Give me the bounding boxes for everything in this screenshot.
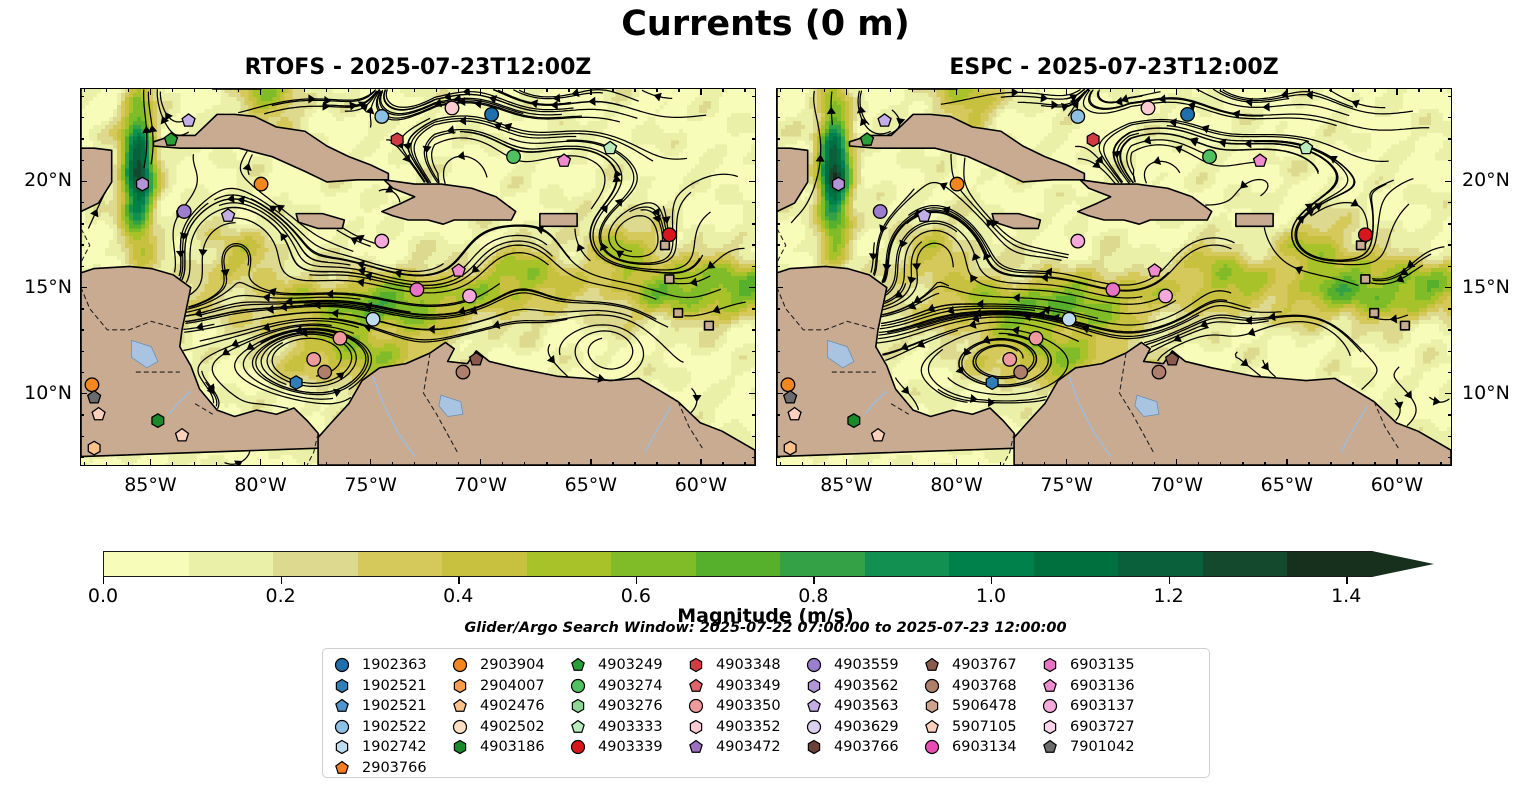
y-tick-minor: [1448, 436, 1452, 437]
y-tick-minor: [752, 351, 756, 352]
y-axis-label: 10°N: [1462, 382, 1510, 404]
legend-float-id: 5907105: [943, 719, 1017, 735]
x-tick-minor: [678, 462, 679, 466]
y-tick-minor: [752, 96, 756, 97]
legend-entry[interactable]: 6903727: [1039, 717, 1157, 738]
x-axis-label: 75°W: [1022, 474, 1112, 496]
colorbar-tick: [1346, 577, 1347, 584]
x-tick: [590, 459, 591, 466]
x-tick-minor: [1000, 462, 1001, 466]
legend-entry[interactable]: 4903767: [921, 655, 1039, 676]
map-marker-4903768[interactable]: [456, 365, 470, 379]
y-tick-minor: [80, 117, 84, 118]
legend-entry[interactable]: 2904007: [449, 676, 567, 697]
marker-circle-icon: [924, 739, 940, 755]
y-tick-minor: [776, 372, 780, 373]
y-tick-minor: [776, 351, 780, 352]
x-tick-minor: [502, 88, 503, 92]
legend-float-id: 6903135: [1061, 657, 1135, 673]
colorbar-band-3: [358, 552, 443, 576]
x-tick-minor: [1154, 88, 1155, 92]
marker-hexagon-icon: [452, 678, 468, 694]
map-marker-4903348[interactable]: [1087, 133, 1099, 147]
legend-float-id: 4903559: [825, 657, 899, 673]
marker-hexagon-icon: [806, 678, 822, 694]
legend-marker-swatch: [449, 719, 471, 735]
legend-entry[interactable]: 4903559: [803, 655, 921, 676]
legend-entry[interactable]: 4903629: [803, 717, 921, 738]
map-marker-4903562[interactable]: [833, 177, 845, 191]
legend-entry[interactable]: 4903339: [567, 737, 685, 758]
x-tick-minor: [414, 88, 415, 92]
legend-float-id: 6903727: [1061, 719, 1135, 735]
map-marker-1902521[interactable]: [986, 376, 998, 390]
legend-entry[interactable]: 6903137: [1039, 696, 1157, 717]
map-marker-4903339[interactable]: [1359, 228, 1373, 242]
colorbar-tick: [813, 577, 814, 584]
x-tick-minor: [282, 462, 283, 466]
legend-column-0: 1902363190252119025211902522190274229037…: [331, 655, 449, 778]
legend-float-id: 6903136: [1061, 678, 1135, 694]
y-tick-minor: [776, 223, 780, 224]
legend-marker-swatch: [567, 678, 589, 694]
y-tick-minor: [752, 117, 756, 118]
map-marker-6903137[interactable]: [1159, 289, 1173, 303]
legend-float-id: 4903349: [707, 678, 781, 694]
legend-float-id: 4903472: [707, 739, 781, 755]
legend-marker-swatch: [331, 678, 353, 694]
legend-float-id: 4903333: [589, 719, 663, 735]
x-tick-minor: [238, 88, 239, 92]
colorbar-band-1: [189, 552, 274, 576]
y-tick-minor: [776, 436, 780, 437]
map-marker-4902476[interactable]: [784, 441, 796, 455]
y-tick-minor: [752, 372, 756, 373]
x-tick-minor: [656, 462, 657, 466]
marker-hexagon-icon: [452, 739, 468, 755]
y-tick-minor: [80, 329, 84, 330]
marker-circle-icon: [688, 698, 704, 714]
legend-marker-swatch: [685, 739, 707, 755]
y-axis-label: 20°N: [6, 169, 72, 191]
map-marker-1902742[interactable]: [366, 313, 380, 327]
y-tick-minor: [1448, 266, 1452, 267]
y-tick-minor: [752, 223, 756, 224]
x-tick-minor: [1440, 462, 1441, 466]
x-tick-minor: [238, 462, 239, 466]
x-tick: [480, 459, 481, 466]
x-tick-minor: [1352, 88, 1353, 92]
x-tick-minor: [612, 462, 613, 466]
legend-entry[interactable]: 1902522: [331, 717, 449, 738]
y-tick-minor: [1448, 202, 1452, 203]
y-tick-minor: [1448, 96, 1452, 97]
map-marker-4903186[interactable]: [152, 414, 164, 428]
x-tick-minor: [1330, 88, 1331, 92]
marker-pentagon-icon: [806, 698, 822, 714]
legend-marker-swatch: [331, 760, 353, 776]
colorbar-tick: [991, 577, 992, 584]
legend-float-id: 1902522: [353, 719, 427, 735]
map-marker-4903350[interactable]: [1029, 332, 1043, 346]
legend-entry[interactable]: 4903276: [567, 696, 685, 717]
x-tick-minor: [744, 88, 745, 92]
x-tick-minor: [912, 462, 913, 466]
panel-title-espc: ESPC - 2025-07-23T12:00Z: [776, 55, 1452, 80]
legend-entry[interactable]: 1902742: [331, 737, 449, 758]
x-tick: [846, 459, 847, 466]
map-marker-4902476[interactable]: [88, 441, 100, 455]
x-tick-minor: [568, 88, 569, 92]
marker-pentagon-icon: [688, 678, 704, 694]
marker-hexagon-icon: [924, 698, 940, 714]
map-panel-rtofs[interactable]: [80, 88, 756, 466]
legend-marker-swatch: [921, 698, 943, 714]
x-tick-minor: [172, 462, 173, 466]
legend-marker-swatch: [567, 657, 589, 673]
legend-float-id: 4903274: [589, 678, 663, 694]
legend-entry[interactable]: 1902521: [331, 676, 449, 697]
legend-entry[interactable]: 4903348: [685, 655, 803, 676]
map-marker-4903350[interactable]: [307, 353, 321, 367]
marker-circle-icon: [452, 719, 468, 735]
x-tick: [370, 459, 371, 466]
x-tick: [956, 459, 957, 466]
map-marker-6903135[interactable]: [410, 283, 424, 297]
x-tick: [370, 88, 371, 95]
map-marker-4903768[interactable]: [1014, 365, 1028, 379]
y-tick: [1445, 287, 1452, 288]
map-marker-4903348[interactable]: [391, 133, 403, 147]
x-tick-minor: [1374, 88, 1375, 92]
legend-float-id: 6903137: [1061, 698, 1135, 714]
legend-marker-swatch: [1039, 739, 1061, 755]
y-tick-minor: [752, 138, 756, 139]
x-tick-minor: [1088, 88, 1089, 92]
marker-circle-icon: [924, 678, 940, 694]
x-tick-minor: [780, 462, 781, 466]
legend-entry[interactable]: 4903472: [685, 737, 803, 758]
x-tick-minor: [1330, 462, 1331, 466]
marker-circle-icon: [570, 739, 586, 755]
legend-marker-swatch: [567, 698, 589, 714]
legend-marker-swatch: [331, 719, 353, 735]
x-tick-minor: [1088, 462, 1089, 466]
legend-marker-swatch: [803, 739, 825, 755]
legend-float-id: 4903249: [589, 657, 663, 673]
map-marker-4903768[interactable]: [318, 365, 332, 379]
x-tick-minor: [868, 88, 869, 92]
map-marker-1902363[interactable]: [485, 108, 499, 122]
y-tick: [749, 393, 756, 394]
legend-entry[interactable]: 4903563: [803, 696, 921, 717]
map-marker-1902363[interactable]: [1181, 108, 1195, 122]
legend-entry[interactable]: 1902363: [331, 655, 449, 676]
legend-float-id: 1902521: [353, 698, 427, 714]
map-marker-2903904[interactable]: [950, 177, 964, 191]
x-axis-label: 70°W: [436, 474, 526, 496]
colorbar-tick-label: 0.0: [63, 585, 143, 607]
legend-entry[interactable]: 4902476: [449, 696, 567, 717]
legend-marker-swatch: [685, 698, 707, 714]
colorbar-tick-label: 1.4: [1306, 585, 1386, 607]
map-marker-4903350[interactable]: [333, 332, 347, 346]
x-tick-minor: [1220, 462, 1221, 466]
x-tick-minor: [414, 462, 415, 466]
map-marker-4903186[interactable]: [848, 414, 860, 428]
legend-float-id: 4902502: [471, 719, 545, 735]
x-tick-minor: [436, 88, 437, 92]
x-tick-minor: [1044, 462, 1045, 466]
legend-entry[interactable]: 6903136: [1039, 676, 1157, 697]
legend-marker-swatch: [567, 739, 589, 755]
x-tick-minor: [1418, 462, 1419, 466]
legend-marker-swatch: [567, 719, 589, 735]
legend-entry[interactable]: 4903768: [921, 676, 1039, 697]
legend-marker-swatch: [331, 698, 353, 714]
colorbar-band-14: [1287, 552, 1372, 576]
marker-circle-icon: [334, 719, 350, 735]
legend-column-3: 49033484903349490335049033524903472: [685, 655, 803, 778]
x-axis-label: 65°W: [546, 474, 636, 496]
legend-marker-swatch: [331, 657, 353, 673]
x-tick-minor: [1308, 462, 1309, 466]
x-axis-label: 85°W: [105, 474, 195, 496]
legend-entry[interactable]: 4903766: [803, 737, 921, 758]
y-tick-minor: [1448, 244, 1452, 245]
legend-float-id: 4903562: [825, 678, 899, 694]
x-tick-minor: [1440, 88, 1441, 92]
legend-entry[interactable]: 4903352: [685, 717, 803, 738]
legend-float-id: 2903904: [471, 657, 545, 673]
marker-circle-icon: [334, 657, 350, 673]
x-tick-minor: [304, 462, 305, 466]
x-tick-minor: [1264, 462, 1265, 466]
legend-entry[interactable]: 5907105: [921, 717, 1039, 738]
legend-marker-swatch: [921, 678, 943, 694]
x-tick-minor: [436, 462, 437, 466]
legend-column-6: 69031356903136690313769037277901042: [1039, 655, 1157, 778]
y-tick-minor: [752, 266, 756, 267]
map-marker-1902522[interactable]: [1071, 110, 1085, 124]
map-marker-4903350[interactable]: [1003, 353, 1017, 367]
x-tick: [1176, 88, 1177, 95]
map-marker-2903904[interactable]: [254, 177, 268, 191]
map-marker-4903562[interactable]: [137, 177, 149, 191]
y-tick-minor: [1448, 308, 1452, 309]
legend-float-id: 5906478: [943, 698, 1017, 714]
map-marker-2903904[interactable]: [781, 378, 795, 392]
map-marker-4903559[interactable]: [177, 205, 191, 219]
colorbar-tick-label: 1.0: [951, 585, 1031, 607]
y-axis-label: 20°N: [1462, 169, 1510, 191]
y-tick-minor: [752, 329, 756, 330]
x-tick-minor: [912, 88, 913, 92]
y-tick-minor: [776, 266, 780, 267]
y-tick-minor: [776, 138, 780, 139]
map-marker-2903904[interactable]: [85, 378, 99, 392]
x-tick-minor: [348, 462, 349, 466]
x-tick-minor: [458, 462, 459, 466]
legend-float-id: 4903767: [943, 657, 1017, 673]
legend-marker-swatch: [1039, 678, 1061, 694]
x-tick: [1396, 459, 1397, 466]
legend-entry[interactable]: 5906478: [921, 696, 1039, 717]
marker-circle-icon: [570, 678, 586, 694]
map-panel-espc[interactable]: [776, 88, 1452, 466]
glider-argo-legend[interactable]: 1902363190252119025211902522190274229037…: [322, 648, 1210, 778]
y-tick-minor: [776, 117, 780, 118]
x-tick-minor: [106, 462, 107, 466]
colorbar-tick: [458, 577, 459, 584]
y-axis-label: 10°N: [6, 382, 72, 404]
y-tick: [80, 287, 87, 288]
map-marker-4903559[interactable]: [873, 205, 887, 219]
legend-entry[interactable]: 4903350: [685, 696, 803, 717]
x-tick-minor: [304, 88, 305, 92]
legend-float-id: 1902521: [353, 678, 427, 694]
x-axis-label: 70°W: [1132, 474, 1222, 496]
y-tick-minor: [1448, 138, 1452, 139]
legend-entry[interactable]: 6903135: [1039, 655, 1157, 676]
legend-marker-swatch: [921, 739, 943, 755]
colorbar-tick: [281, 577, 282, 584]
y-tick-minor: [776, 202, 780, 203]
marker-hexagon-icon: [1042, 657, 1058, 673]
y-tick: [1445, 393, 1452, 394]
map-marker-4903274[interactable]: [507, 150, 521, 164]
legend-column-1: 29039042904007490247649025024903186: [449, 655, 567, 778]
x-tick: [956, 88, 957, 95]
x-tick-minor: [1000, 88, 1001, 92]
x-tick-minor: [1242, 88, 1243, 92]
colorbar-band-6: [611, 552, 696, 576]
legend-float-id: 4903350: [707, 698, 781, 714]
x-tick-minor: [1264, 88, 1265, 92]
x-tick: [150, 88, 151, 95]
map-marker-4903352[interactable]: [445, 101, 459, 115]
map-marker-6903137[interactable]: [375, 234, 389, 248]
x-tick-minor: [978, 88, 979, 92]
x-tick-minor: [824, 88, 825, 92]
y-tick-minor: [776, 329, 780, 330]
y-tick-minor: [80, 160, 84, 161]
legend-entry[interactable]: 4903249: [567, 655, 685, 676]
marker-hexagon-icon: [334, 678, 350, 694]
map-marker-4903768[interactable]: [1152, 365, 1166, 379]
x-axis-label: 60°W: [656, 474, 746, 496]
current-magnitude-field-rtofs: [81, 89, 755, 465]
legend-entry[interactable]: 4903186: [449, 737, 567, 758]
legend-entry[interactable]: 4903562: [803, 676, 921, 697]
map-marker-1902521[interactable]: [290, 376, 302, 390]
legend-entry[interactable]: 2903766: [331, 758, 449, 779]
legend-float-id: 4903186: [471, 739, 545, 755]
legend-entry[interactable]: 6903134: [921, 737, 1039, 758]
legend-entry[interactable]: 4902502: [449, 717, 567, 738]
y-tick-minor: [752, 202, 756, 203]
map-marker-4903274[interactable]: [1203, 150, 1217, 164]
legend-entry[interactable]: 7901042: [1039, 737, 1157, 758]
map-marker-4903352[interactable]: [1141, 101, 1155, 115]
map-marker-6903137[interactable]: [1071, 234, 1085, 248]
legend-marker-swatch: [685, 678, 707, 694]
x-tick-minor: [978, 462, 979, 466]
y-axis-label: 15°N: [6, 276, 72, 298]
x-tick-minor: [128, 462, 129, 466]
x-tick-minor: [392, 462, 393, 466]
x-tick: [1066, 459, 1067, 466]
x-tick-minor: [106, 88, 107, 92]
x-tick-minor: [128, 88, 129, 92]
x-tick-minor: [934, 88, 935, 92]
y-tick-minor: [80, 96, 84, 97]
marker-pentagon-icon: [688, 739, 704, 755]
legend-float-id: 4903339: [589, 739, 663, 755]
legend-float-id: 4902476: [471, 698, 545, 714]
x-tick-minor: [1308, 88, 1309, 92]
x-tick-minor: [612, 88, 613, 92]
map-marker-6903135[interactable]: [1106, 283, 1120, 297]
map-marker-6903137[interactable]: [463, 289, 477, 303]
x-tick-minor: [1418, 88, 1419, 92]
legend-entry[interactable]: 2903904: [449, 655, 567, 676]
y-axis-label: 15°N: [1462, 276, 1510, 298]
colorbar-band-7: [696, 552, 781, 576]
x-tick: [1286, 88, 1287, 95]
x-tick: [1396, 88, 1397, 95]
y-tick-minor: [776, 414, 780, 415]
x-tick-minor: [634, 88, 635, 92]
x-tick-minor: [1220, 88, 1221, 92]
map-marker-4903339[interactable]: [663, 228, 677, 242]
x-tick-minor: [1044, 88, 1045, 92]
legend-entry[interactable]: 4903349: [685, 676, 803, 697]
y-tick-minor: [752, 414, 756, 415]
y-tick-minor: [80, 266, 84, 267]
x-tick-minor: [1022, 462, 1023, 466]
page-title: Currents (0 m): [0, 4, 1531, 44]
y-tick-minor: [1448, 457, 1452, 458]
x-tick-minor: [1352, 462, 1353, 466]
colorbar-tick-label: 0.2: [241, 585, 321, 607]
x-tick-minor: [194, 88, 195, 92]
x-tick: [1286, 459, 1287, 466]
x-tick-minor: [172, 88, 173, 92]
y-tick-minor: [776, 160, 780, 161]
map-marker-1902742[interactable]: [1062, 313, 1076, 327]
legend-entry[interactable]: 1902521: [331, 696, 449, 717]
y-tick: [749, 287, 756, 288]
marker-pentagon-icon: [570, 657, 586, 673]
y-tick: [776, 393, 783, 394]
x-tick-minor: [934, 462, 935, 466]
marker-pentagon-icon: [924, 657, 940, 673]
y-tick-minor: [752, 160, 756, 161]
y-tick-minor: [80, 223, 84, 224]
legend-entry[interactable]: 4903274: [567, 676, 685, 697]
x-tick-minor: [84, 462, 85, 466]
map-marker-1902522[interactable]: [375, 110, 389, 124]
y-tick-minor: [776, 457, 780, 458]
x-tick: [260, 459, 261, 466]
legend-entry[interactable]: 4903333: [567, 717, 685, 738]
x-tick-minor: [84, 88, 85, 92]
x-tick-minor: [1132, 88, 1133, 92]
x-tick: [700, 459, 701, 466]
x-axis-label: 65°W: [1242, 474, 1332, 496]
y-tick: [776, 181, 783, 182]
